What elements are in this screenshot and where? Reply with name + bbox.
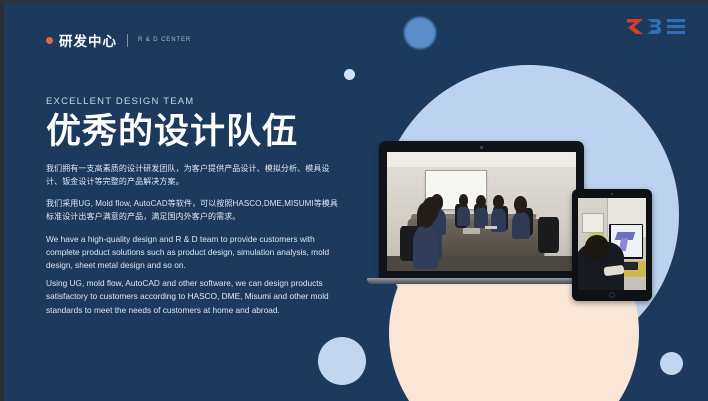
- decorative-circle-small-top: [344, 69, 355, 80]
- decorative-circle-bottom-left: [318, 337, 366, 385]
- tablet-screen-cad-workstation-photo: [578, 198, 646, 290]
- page-title: 优秀的设计队伍: [46, 114, 346, 151]
- laptop-screen-meeting-room-photo: [387, 152, 576, 271]
- tablet-device: [572, 189, 652, 301]
- laptop-camera-icon: [480, 146, 483, 149]
- text-content-block: EXCELLENT DESIGN TEAM 优秀的设计队伍 我们拥有一支高素质的…: [46, 96, 346, 321]
- decorative-circle-bottom-right: [660, 352, 683, 375]
- section-header: 研发中心 R & D CENTER: [46, 30, 191, 50]
- tablet-camera-icon: [611, 193, 613, 195]
- laptop-lid: [379, 141, 584, 279]
- slide-canvas: 研发中心 R & D CENTER EXCELLENT DESIGN TEAM …: [0, 0, 708, 401]
- laptop-device: [379, 141, 584, 289]
- eyebrow-text: EXCELLENT DESIGN TEAM: [46, 96, 346, 107]
- orange-dot-icon: [46, 37, 53, 44]
- laptop-base: [367, 278, 596, 284]
- paragraph-en-2: Using UG, mold flow, AutoCAD and other s…: [46, 277, 338, 317]
- header-title-en: R & D CENTER: [138, 37, 191, 43]
- tablet-home-button-icon: [609, 292, 615, 298]
- header-title-cn: 研发中心: [59, 30, 117, 50]
- paragraph-cn-2: 我们采用UG, Mold flow, AutoCAD等软件，可以按照HASCO,…: [46, 198, 338, 224]
- header-divider: [127, 34, 128, 47]
- paragraph-cn-1: 我们拥有一支高素质的设计研发团队，为客户提供产品设计、模拟分析、模具设计、钣金设…: [46, 163, 338, 189]
- decorative-circle-medium-blue: [404, 17, 436, 49]
- paragraph-en-1: We have a high-quality design and R & D …: [46, 233, 338, 273]
- company-logo: [623, 14, 689, 39]
